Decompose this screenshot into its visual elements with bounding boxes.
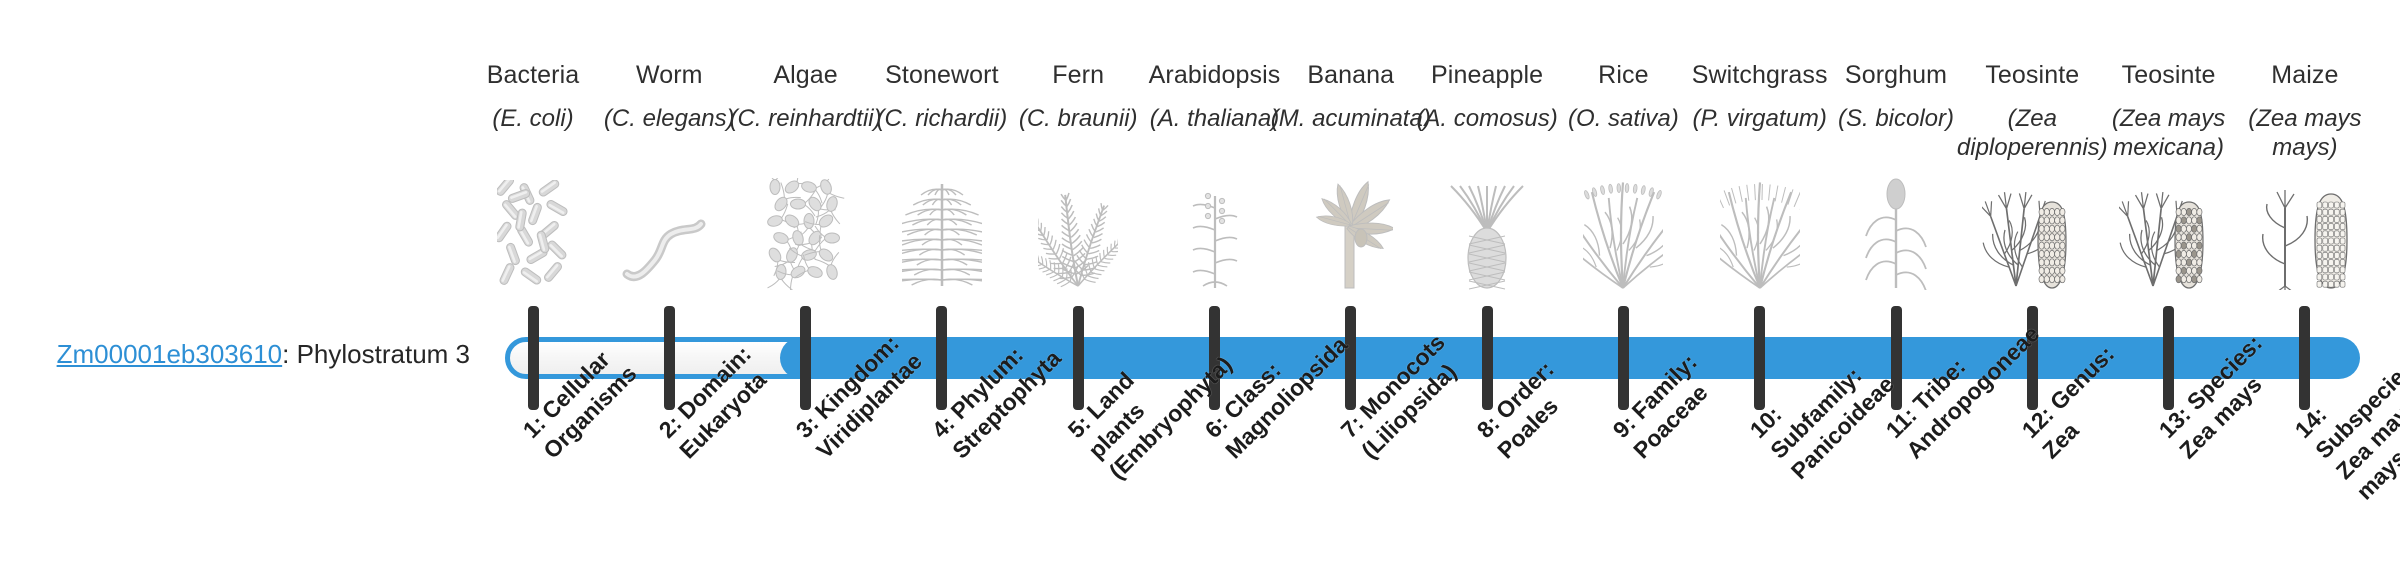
species-column-banana-7: Banana(M. acuminata) (1283, 0, 1419, 300)
stratum-tick-4[interactable] (936, 306, 947, 410)
species-column-teosinte-12: Teosinte(Zea diploperennis) (1964, 0, 2100, 300)
gene-label-separator: : (282, 339, 296, 369)
stratum-tick-12[interactable] (2027, 306, 2038, 410)
species-column-stonewort-4: Stonewort(C. richardii) (874, 0, 1010, 300)
maize-illustration (2221, 175, 2389, 290)
stratum-tick-8[interactable] (1482, 306, 1493, 410)
species-column-switchgrass-10: Switchgrass(P. virgatum) (1692, 0, 1828, 300)
stratum-tick-5[interactable] (1073, 306, 1084, 410)
species-column-teosinte-13: Teosinte(Zea mays mexicana) (2101, 0, 2237, 300)
species-column-rice-9: Rice(O. sativa) (1555, 0, 1691, 300)
stratum-tick-7[interactable] (1345, 306, 1356, 410)
stratum-tick-3[interactable] (800, 306, 811, 410)
species-column-bacteria-1: Bacteria(E. coli) (465, 0, 601, 300)
species-common-name: Maize (2223, 60, 2387, 90)
species-column-algae-3: Algae(C. reinhardtii) (738, 0, 874, 300)
phylostratum-chart: Zm00001eb303610: Phylostratum 3 Bacteria… (0, 0, 2400, 580)
stratum-tick-1[interactable] (528, 306, 539, 410)
species-column-fern-5: Fern(C. braunii) (1010, 0, 1146, 300)
species-column-maize-14: Maize(Zea mays mays) (2237, 0, 2373, 300)
stratum-tick-2[interactable] (664, 306, 675, 410)
gene-phylostratum-label: Zm00001eb303610: Phylostratum 3 (0, 337, 470, 371)
species-column-sorghum-11: Sorghum(S. bicolor) (1828, 0, 1964, 300)
phylostratum-value-label: Phylostratum 3 (297, 339, 470, 369)
stratum-tick-13[interactable] (2163, 306, 2174, 410)
species-column-worm-2: Worm(C. elegans) (601, 0, 737, 300)
stratum-tick-10[interactable] (1754, 306, 1765, 410)
species-column-arabidopsis-6: Arabidopsis(A. thaliana) (1147, 0, 1283, 300)
stratum-tick-9[interactable] (1618, 306, 1629, 410)
stratum-tick-14[interactable] (2299, 306, 2310, 410)
gene-id-link[interactable]: Zm00001eb303610 (57, 339, 283, 369)
species-scientific-name: (Zea mays mays) (2223, 104, 2387, 162)
species-column-pineapple-8: Pineapple(A. comosus) (1419, 0, 1555, 300)
